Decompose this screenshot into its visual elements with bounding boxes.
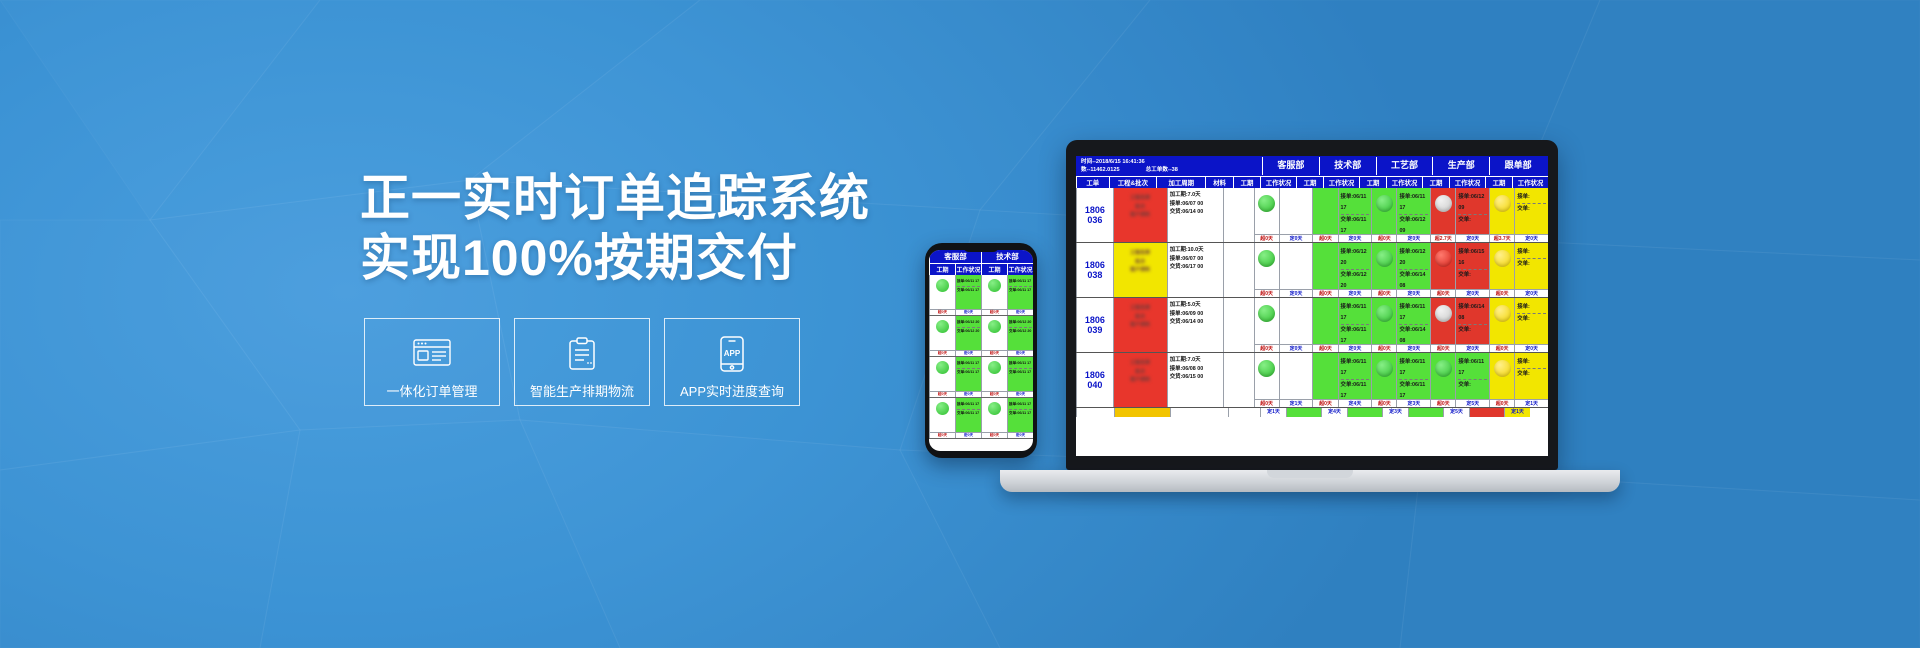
scheduled-tag: 定0天	[1515, 289, 1548, 297]
project-batch-cell: 工程名称批次客户资料	[1113, 298, 1167, 352]
dept-status-cell: 接单:06/12 20交单:06/14 08确认:06/14 08定0天	[1396, 243, 1430, 297]
phone-status-indicator-green	[936, 402, 949, 415]
order-number-cell: 1806036	[1076, 188, 1113, 242]
status-date: 交单:	[1517, 314, 1546, 325]
laptop-screen[interactable]: 时间--2018/6/15 16:41:36 数--11462.0125 总工单…	[1076, 156, 1548, 456]
status-dates: 接单:06/15 16交单:	[1456, 243, 1489, 284]
department-header-row: 客服部 技术部 工艺部 生产部 跟单部	[1262, 157, 1546, 175]
dept-status-cell: 接单:06/15 16交单:定0天	[1455, 243, 1489, 297]
dept-status-cell: 定0天	[1279, 188, 1313, 242]
status-indicator-green	[1258, 195, 1275, 212]
mobile-app-icon: APP	[719, 334, 745, 374]
status-indicator-green	[1376, 305, 1393, 322]
footer-cell: 定1天	[1504, 408, 1530, 417]
col-header-status: 工作状况	[1260, 176, 1296, 188]
project-batch-cell: 工程名称批次客户资料	[1113, 353, 1167, 407]
status-dates: 接单:交单:	[1515, 298, 1548, 329]
feature-list: 一体化订单管理 智能生产排期物流	[364, 318, 800, 406]
dept-duration-cell: 超0天	[1489, 353, 1514, 407]
scheduled-tag: 定0天	[1456, 289, 1489, 297]
overdue-tag: 超0天	[1313, 344, 1337, 352]
footer-cell	[1408, 408, 1443, 417]
status-indicator-yellow	[1494, 250, 1511, 267]
status-date: 交单:	[1517, 204, 1546, 215]
status-indicator-silver	[1435, 195, 1452, 212]
status-date: 接单:06/12 20	[1341, 247, 1370, 270]
dept-header: 工艺部	[1376, 157, 1433, 175]
status-date: 交单:	[1517, 259, 1546, 270]
phone-overdue-tag: 超0天	[930, 350, 955, 356]
status-date: 接单:06/15 16	[1458, 247, 1487, 270]
status-indicator-red	[1435, 250, 1452, 267]
phone-col-label: 工作状况	[955, 263, 981, 275]
phone-status-date: 接单:06/12 20	[957, 319, 980, 328]
dept-status-cell: 接单:交单:定1天	[1514, 353, 1548, 407]
dept-header: 技术部	[1319, 157, 1376, 175]
material-cell	[1223, 188, 1254, 242]
dept-status-cell: 接单:06/14 08交单:定0天	[1455, 298, 1489, 352]
dept-header: 生产部	[1432, 157, 1489, 175]
overdue-tag: 超0天	[1372, 344, 1396, 352]
status-date: 交单:06/11 17	[1399, 380, 1428, 402]
order-number-cell: 1806038	[1076, 243, 1113, 297]
phone-status-cell: 接单:06/11 17交单:06/11 17定0天	[955, 357, 981, 397]
status-date: 接单:06/12 09	[1458, 192, 1487, 215]
material-cell	[1223, 243, 1254, 297]
status-indicator-yellow	[1494, 305, 1511, 322]
col-header-cycle: 加工周期	[1156, 176, 1205, 188]
scheduled-tag: 定0天	[1339, 289, 1372, 297]
order-window-icon	[413, 334, 451, 374]
dept-status-cell: 接单:交单:定0天	[1514, 243, 1548, 297]
dept-column-headers: 工期工作状况工期工作状况工期工作状况工期工作状况工期工作状况	[1233, 176, 1548, 188]
headline-line-2: 实现100%按期交付	[360, 228, 880, 288]
phone-status-date: 交单:06/11 17	[957, 287, 980, 295]
footer-cell	[1469, 408, 1504, 417]
footer-cell	[1170, 408, 1228, 417]
scheduled-tag: 定0天	[1397, 344, 1430, 352]
scheduled-tag: 定0天	[1280, 289, 1313, 297]
phone-col-label: 工期	[929, 263, 955, 275]
status-date: 接单:	[1517, 247, 1546, 259]
laptop-base-notch	[1267, 470, 1353, 478]
col-header-status: 工作状况	[1512, 176, 1548, 188]
scheduled-tag: 定3天	[1397, 399, 1430, 407]
dept-status-cell: 接单:06/11 17交单:定5天	[1455, 353, 1489, 407]
dept-status-cell: 接单:06/12 09交单:定0天	[1455, 188, 1489, 242]
dept-status-cell: 接单:06/11 17交单:06/11 17定0天	[1338, 298, 1372, 352]
status-date: 交单:	[1458, 270, 1487, 281]
dept-status-cell: 定0天	[1279, 243, 1313, 297]
status-dates: 接单:交单:	[1515, 188, 1548, 219]
processing-cycle-cell: 加工期:7.0天接单:06/08 00交货:06/15 00	[1167, 353, 1223, 407]
phone-status-date: 接单:06/11 17	[957, 401, 980, 410]
column-header-row: 工单 工程&批次 加工周期 材料 工期工作状况工期工作状况工期工作状况工期工作状…	[1076, 176, 1548, 188]
status-date: 接单:	[1517, 192, 1546, 204]
phone-status-dates: 接单:06/11 17交单:06/11 17	[956, 398, 981, 420]
status-date: 接单:06/12 20	[1399, 247, 1428, 270]
footer-cell	[1286, 408, 1321, 417]
phone-overdue-tag: 超0天	[930, 391, 955, 397]
dept-status-cell: 接单:06/11 17交单:06/14 08定0天	[1396, 298, 1430, 352]
overdue-tag: 超0天	[1372, 289, 1396, 297]
dept-duration-cell: 超0天	[1489, 243, 1514, 297]
feature-caption: 智能生产排期物流	[530, 381, 634, 400]
phone-status-date: 接单:06/11 17	[957, 278, 980, 287]
overdue-tag: 超0天	[1313, 399, 1337, 407]
status-dates: 接单:06/11 17交单:06/11 17	[1397, 353, 1430, 405]
feature-card-production-scheduling[interactable]: 智能生产排期物流	[514, 318, 650, 406]
status-date: 交单:	[1458, 215, 1487, 226]
material-cell	[1223, 353, 1254, 407]
dept-duration-cell: 超0天	[1489, 298, 1514, 352]
status-date: 交单:	[1517, 369, 1546, 380]
status-indicator-green	[1258, 250, 1275, 267]
phone-status-dates: 接单:06/11 17交单:06/11 17	[956, 275, 981, 297]
phone-status-indicator-green	[936, 279, 949, 292]
status-dates: 接单:06/11 17交单:06/11 17	[1339, 298, 1372, 350]
dept-duration-cell: 超0天	[1371, 243, 1396, 297]
footer-cell: 定3天	[1382, 408, 1408, 417]
dept-status-cell: 接单:06/11 17交单:06/12 09定0天	[1396, 188, 1430, 242]
status-indicator-green	[1435, 360, 1452, 377]
scheduled-tag: 定0天	[1456, 344, 1489, 352]
dept-status-cell: 接单:交单:定0天	[1514, 298, 1548, 352]
dept-duration-cell: 超0天	[1430, 298, 1455, 352]
col-header-duration: 工期	[1359, 176, 1386, 188]
dept-duration-cell: 超0天	[1371, 353, 1396, 407]
footer-cell: 定1天	[1260, 408, 1286, 417]
overdue-tag: 超0天	[1313, 289, 1337, 297]
project-batch-cell: 工程名称批次客户资料	[1113, 243, 1167, 297]
laptop-lid: 时间--2018/6/15 16:41:36 数--11462.0125 总工单…	[1066, 140, 1558, 470]
dashboard-header: 时间--2018/6/15 16:41:36 数--11462.0125 总工单…	[1076, 156, 1548, 176]
dept-duration-cell: 超0天	[1254, 298, 1279, 352]
status-date: 接单:	[1517, 357, 1546, 369]
overdue-tag: 超0天	[1255, 344, 1279, 352]
status-date: 交单:	[1458, 380, 1487, 391]
dept-duration-cell: 超0天	[1312, 243, 1337, 297]
status-indicator-yellow	[1494, 195, 1511, 212]
status-date: 接单:06/11 17	[1458, 357, 1487, 380]
status-date: 接单:06/14 08	[1458, 302, 1487, 325]
status-dates: 接单:06/11 17交单:06/12 09	[1397, 188, 1430, 240]
headline-line-1: 正一实时订单追踪系统	[360, 170, 870, 226]
overdue-tag: 超0天	[1431, 399, 1455, 407]
dept-status-cell: 定0天	[1279, 298, 1313, 352]
status-dates: 接单:06/12 20交单:06/12 20	[1339, 243, 1372, 295]
laptop-mockup: 时间--2018/6/15 16:41:36 数--11462.0125 总工单…	[1000, 140, 1620, 500]
overdue-tag: 超0天	[1490, 399, 1514, 407]
dept-duration-cell: 超0天	[1254, 188, 1279, 242]
overdue-tag: 超0天	[1490, 344, 1514, 352]
phone-scheduled-tag: 定0天	[956, 350, 981, 356]
status-indicator-green	[1258, 305, 1275, 322]
processing-cycle-cell: 加工期:5.0天接单:06/09 00交货:06/14 00	[1167, 298, 1223, 352]
dept-header: 客服部	[1262, 157, 1319, 175]
phone-notch	[963, 245, 999, 252]
processing-cycle-cell: 加工期:7.0天接单:06/07 00交货:06/14 00	[1167, 188, 1223, 242]
overdue-tag: 超0天	[1255, 289, 1279, 297]
footer-cell	[1076, 408, 1114, 417]
laptop-base	[1000, 470, 1620, 492]
dept-duration-cell: 超3.7天	[1489, 188, 1514, 242]
dashboard-row-list: 1806036工程名称批次客户资料加工期:7.0天接单:06/07 00交货:0…	[1076, 188, 1548, 408]
overdue-tag: 超3.7天	[1490, 234, 1514, 242]
status-date: 交单:06/11 17	[1341, 380, 1370, 402]
footer-cell	[1114, 408, 1170, 417]
col-header-material: 材料	[1205, 176, 1233, 188]
status-dates: 接单:06/11 17交单:06/14 08	[1397, 298, 1430, 350]
dept-header: 跟单部	[1489, 157, 1546, 175]
feature-caption: 一体化订单管理	[386, 381, 477, 400]
scheduled-tag: 定0天	[1515, 344, 1548, 352]
status-dates: 接单:06/14 08交单:	[1456, 298, 1489, 339]
dept-duration-cell: 超0天	[1371, 188, 1396, 242]
feature-card-app-tracking[interactable]: APP APP实时进度查询	[664, 318, 800, 406]
phone-status-indicator-green	[936, 320, 949, 333]
phone-status-cell: 接单:06/11 17交单:06/11 17定0天	[955, 275, 981, 315]
footer-cell: 定4天	[1321, 408, 1347, 417]
dept-duration-cell: 超0天	[1312, 298, 1337, 352]
page-title: 正一实时订单追踪系统 实现100%按期交付	[360, 168, 880, 288]
material-cell	[1223, 298, 1254, 352]
dept-status-cell: 接单:06/11 17交单:06/11 17定3天	[1396, 353, 1430, 407]
status-dates: 接单:交单:	[1515, 243, 1548, 274]
col-header-duration: 工期	[1485, 176, 1512, 188]
phone-status-indicator-green	[936, 361, 949, 374]
phone-status-dates: 接单:06/11 17交单:06/11 17	[956, 357, 981, 379]
dept-duration-cell: 超2.7天	[1430, 188, 1455, 242]
dept-duration-cell: 超0天	[1312, 353, 1337, 407]
status-indicator-green	[1376, 195, 1393, 212]
phone-overdue-tag: 超0天	[930, 309, 955, 315]
status-date: 交单:06/12 09	[1399, 215, 1428, 237]
phone-scheduled-tag: 定0天	[956, 432, 981, 438]
phone-status-cell: 接单:06/11 17交单:06/11 17定0天	[955, 398, 981, 438]
scheduled-tag: 定1天	[1280, 399, 1313, 407]
phone-status-date: 交单:06/11 17	[957, 369, 980, 377]
status-date: 接单:06/11 17	[1341, 192, 1370, 215]
processing-cycle-cell: 加工期:10.0天接单:06/07 00交货:06/17 00	[1167, 243, 1223, 297]
dept-status-cell: 定1天	[1279, 353, 1313, 407]
table-row[interactable]: 1806039工程名称批次客户资料加工期:5.0天接单:06/09 00交货:0…	[1076, 298, 1548, 353]
dept-duration-cell: 超0天	[1371, 298, 1396, 352]
dashboard-meta: 时间--2018/6/15 16:41:36 数--11462.0125 总工单…	[1078, 157, 1262, 175]
dashboard-total-orders: 总工单数--38	[1146, 166, 1178, 174]
dashboard-footer-row: 定1天定4天定3天定5天定1天	[1076, 408, 1548, 417]
phone-duration-cell: 超0天	[929, 357, 955, 397]
clipboard-icon	[567, 334, 597, 374]
col-header-duration: 工期	[1296, 176, 1323, 188]
scheduled-tag: 定5天	[1456, 399, 1489, 407]
phone-duration-cell: 超0天	[929, 398, 955, 438]
scheduled-tag: 定0天	[1397, 289, 1430, 297]
table-row[interactable]: 1806038工程名称批次客户资料加工期:10.0天接单:06/07 00交货:…	[1076, 243, 1548, 298]
status-indicator-yellow	[1494, 360, 1511, 377]
status-dates: 接单:06/11 17交单:	[1456, 353, 1489, 394]
status-indicator-green	[1376, 250, 1393, 267]
status-dates: 接单:06/11 17交单:06/11 17	[1339, 353, 1372, 405]
footer-cell: 定5天	[1443, 408, 1469, 417]
status-indicator-green	[1376, 360, 1393, 377]
footer-cell	[1347, 408, 1382, 417]
overdue-tag: 超0天	[1372, 234, 1396, 242]
scheduled-tag: 定4天	[1339, 399, 1372, 407]
dept-duration-cell: 超0天	[1254, 353, 1279, 407]
col-header-order: 工单	[1076, 176, 1109, 188]
dept-duration-cell: 超0天	[1430, 353, 1455, 407]
dept-duration-cell: 超0天	[1254, 243, 1279, 297]
overdue-tag: 超0天	[1255, 234, 1279, 242]
footer-cell	[1228, 408, 1260, 417]
status-date: 交单:06/11 17	[1341, 325, 1370, 347]
status-indicator-silver	[1435, 305, 1452, 322]
status-date: 交单:	[1458, 325, 1487, 336]
phone-status-date: 接单:06/11 17	[957, 360, 980, 369]
overdue-tag: 超0天	[1313, 234, 1337, 242]
status-date: 接单:06/11 17	[1341, 302, 1370, 325]
phone-status-date: 交单:06/12 20	[957, 328, 980, 336]
feature-card-order-management[interactable]: 一体化订单管理	[364, 318, 500, 406]
table-row[interactable]: 1806040工程名称批次客户资料加工期:7.0天接单:06/08 00交货:0…	[1076, 353, 1548, 408]
status-date: 接单:06/11 17	[1341, 357, 1370, 380]
dept-status-cell: 接单:06/11 17交单:06/11 17确认:06/11 17定0天	[1338, 188, 1372, 242]
col-header-status: 工作状况	[1449, 176, 1485, 188]
status-date: 交单:06/14 08	[1399, 325, 1428, 347]
feature-caption: APP实时进度查询	[680, 381, 784, 400]
overdue-tag: 超0天	[1490, 289, 1514, 297]
status-indicator-green	[1258, 360, 1275, 377]
dept-status-cell: 接单:交单:定0天	[1514, 188, 1548, 242]
scheduled-tag: 定0天	[1397, 234, 1430, 242]
dept-duration-cell: 超0天	[1312, 188, 1337, 242]
order-number-cell: 1806040	[1076, 353, 1113, 407]
scheduled-tag: 定1天	[1515, 399, 1548, 407]
overdue-tag: 超2.7天	[1431, 234, 1455, 242]
phone-status-cell: 接单:06/12 20交单:06/12 20定0天	[955, 316, 981, 356]
overdue-tag: 超0天	[1255, 399, 1279, 407]
status-date: 交单:06/12 20	[1341, 270, 1370, 292]
status-date: 接单:06/11 17	[1399, 192, 1428, 215]
order-tracking-dashboard[interactable]: 时间--2018/6/15 16:41:36 数--11462.0125 总工单…	[1076, 156, 1548, 456]
dept-status-cell: 接单:06/12 20交单:06/12 20定0天	[1338, 243, 1372, 297]
hero-copy: 正一实时订单追踪系统 实现100%按期交付	[360, 168, 880, 288]
overdue-tag: 超0天	[1431, 289, 1455, 297]
phone-overdue-tag: 超0天	[930, 432, 955, 438]
dept-status-cell: 接单:06/11 17交单:06/11 17定4天	[1338, 353, 1372, 407]
col-header-project: 工程&批次	[1109, 176, 1157, 188]
scheduled-tag: 定0天	[1280, 344, 1313, 352]
scheduled-tag: 定0天	[1339, 234, 1372, 242]
banner-stage: 正一实时订单追踪系统 实现100%按期交付 一体化订单管理	[0, 0, 1920, 648]
col-header-duration: 工期	[1422, 176, 1449, 188]
phone-status-dates: 接单:06/12 20交单:06/12 20	[956, 316, 981, 338]
status-date: 接单:06/11 17	[1399, 357, 1428, 380]
col-header-status: 工作状况	[1386, 176, 1422, 188]
dashboard-count: 数--11462.0125	[1081, 166, 1120, 174]
scheduled-tag: 定0天	[1280, 234, 1313, 242]
status-dates: 接单:06/12 09交单:	[1456, 188, 1489, 229]
phone-duration-cell: 超0天	[929, 316, 955, 356]
phone-duration-cell: 超0天	[929, 275, 955, 315]
phone-scheduled-tag: 定0天	[956, 309, 981, 315]
scheduled-tag: 定0天	[1456, 234, 1489, 242]
col-header-status: 工作状况	[1323, 176, 1359, 188]
col-header-duration: 工期	[1233, 176, 1260, 188]
phone-status-date: 交单:06/11 17	[957, 410, 980, 418]
status-date: 接单:	[1517, 302, 1546, 314]
overdue-tag: 超0天	[1372, 399, 1396, 407]
status-dates: 接单:交单:	[1515, 353, 1548, 384]
overdue-tag: 超0天	[1431, 344, 1455, 352]
order-number-cell: 1806039	[1076, 298, 1113, 352]
dept-duration-cell: 超0天	[1430, 243, 1455, 297]
status-date: 接单:06/11 17	[1399, 302, 1428, 325]
app-badge-text: APP	[724, 349, 741, 358]
phone-scheduled-tag: 定0天	[956, 391, 981, 397]
table-row[interactable]: 1806036工程名称批次客户资料加工期:7.0天接单:06/07 00交货:0…	[1076, 188, 1548, 243]
project-batch-cell: 工程名称批次客户资料	[1113, 188, 1167, 242]
dashboard-time: 时间--2018/6/15 16:41:36	[1081, 158, 1262, 166]
scheduled-tag: 定0天	[1339, 344, 1372, 352]
scheduled-tag: 定0天	[1515, 234, 1548, 242]
